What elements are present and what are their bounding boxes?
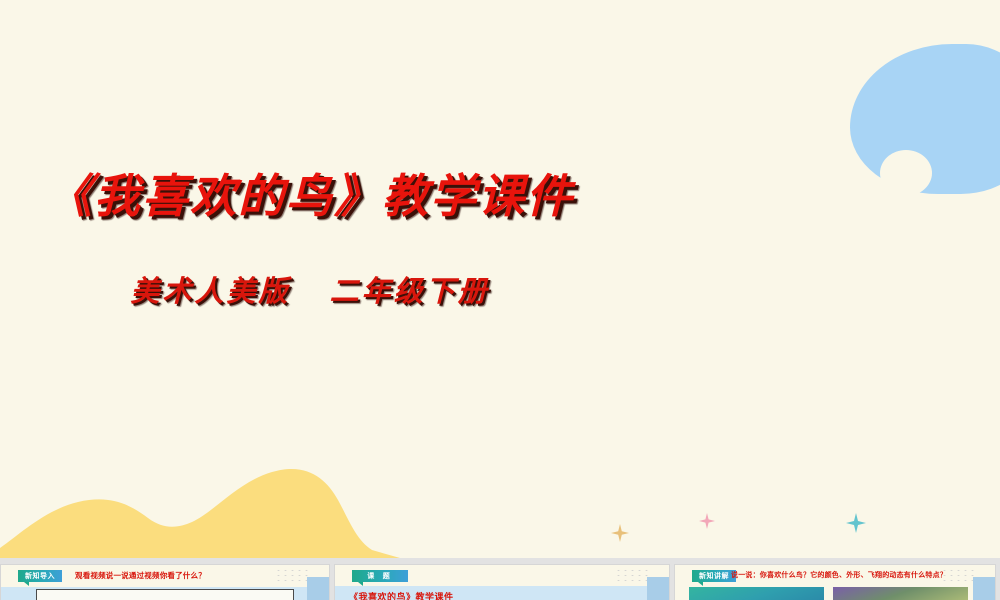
thumbnail-new-knowledge-explain[interactable]: 新知讲解 说一说：你喜欢什么鸟？它的颜色、外形、飞翔的动态有什么特点？ [674,564,996,600]
thumb3-heading: 说一说：你喜欢什么鸟？它的颜色、外形、飞翔的动态有什么特点？ [731,570,947,580]
dot-grid-decor-icon [275,568,311,584]
thumb1-heading: 观看视频说一说通过视频你看了什么？ [75,570,206,581]
thumb1-video-frame [36,589,294,600]
main-slide-canvas[interactable]: 《我喜欢的鸟》教学课件 美术人美版 二年级下册 [0,0,1000,558]
thumb2-body-title: 《我喜欢的鸟》教学课件 [349,590,454,600]
thumb1-ribbon-label: 新知导入 [18,570,62,582]
thumb3-photo-left [689,587,824,600]
thumbnail-lesson-topic[interactable]: 课 题 《我喜欢的鸟》教学课件 [334,564,670,600]
thumb3-ribbon-label: 新知讲解 [692,570,736,582]
corner-tab-decor [307,577,329,600]
slide-subtitle[interactable]: 美术人美版 二年级下册 [0,268,620,310]
thumb3-photo-right [833,587,968,600]
thumb2-ribbon-label: 课 题 [352,570,408,582]
slide-preview-stage: 《我喜欢的鸟》教学课件 美术人美版 二年级下册 新知导入 观看视频说一说通过视频… [0,0,1000,600]
thumbnail-strip: 新知导入 观看视频说一说通过视频你看了什么？ 课 题 《我喜欢的鸟》教学课件 新… [0,558,1000,600]
dot-grid-decor-icon [615,568,651,584]
title-block: 《我喜欢的鸟》教学课件 美术人美版 二年级下册 [0,168,620,310]
decorative-blue-blob-notch [880,150,932,196]
slide-title[interactable]: 《我喜欢的鸟》教学课件 [0,168,620,226]
corner-tab-decor [973,577,995,600]
corner-tab-decor [647,577,669,600]
decorative-yellow-wave [0,448,400,558]
thumbnail-new-knowledge-intro[interactable]: 新知导入 观看视频说一说通过视频你看了什么？ [0,564,330,600]
